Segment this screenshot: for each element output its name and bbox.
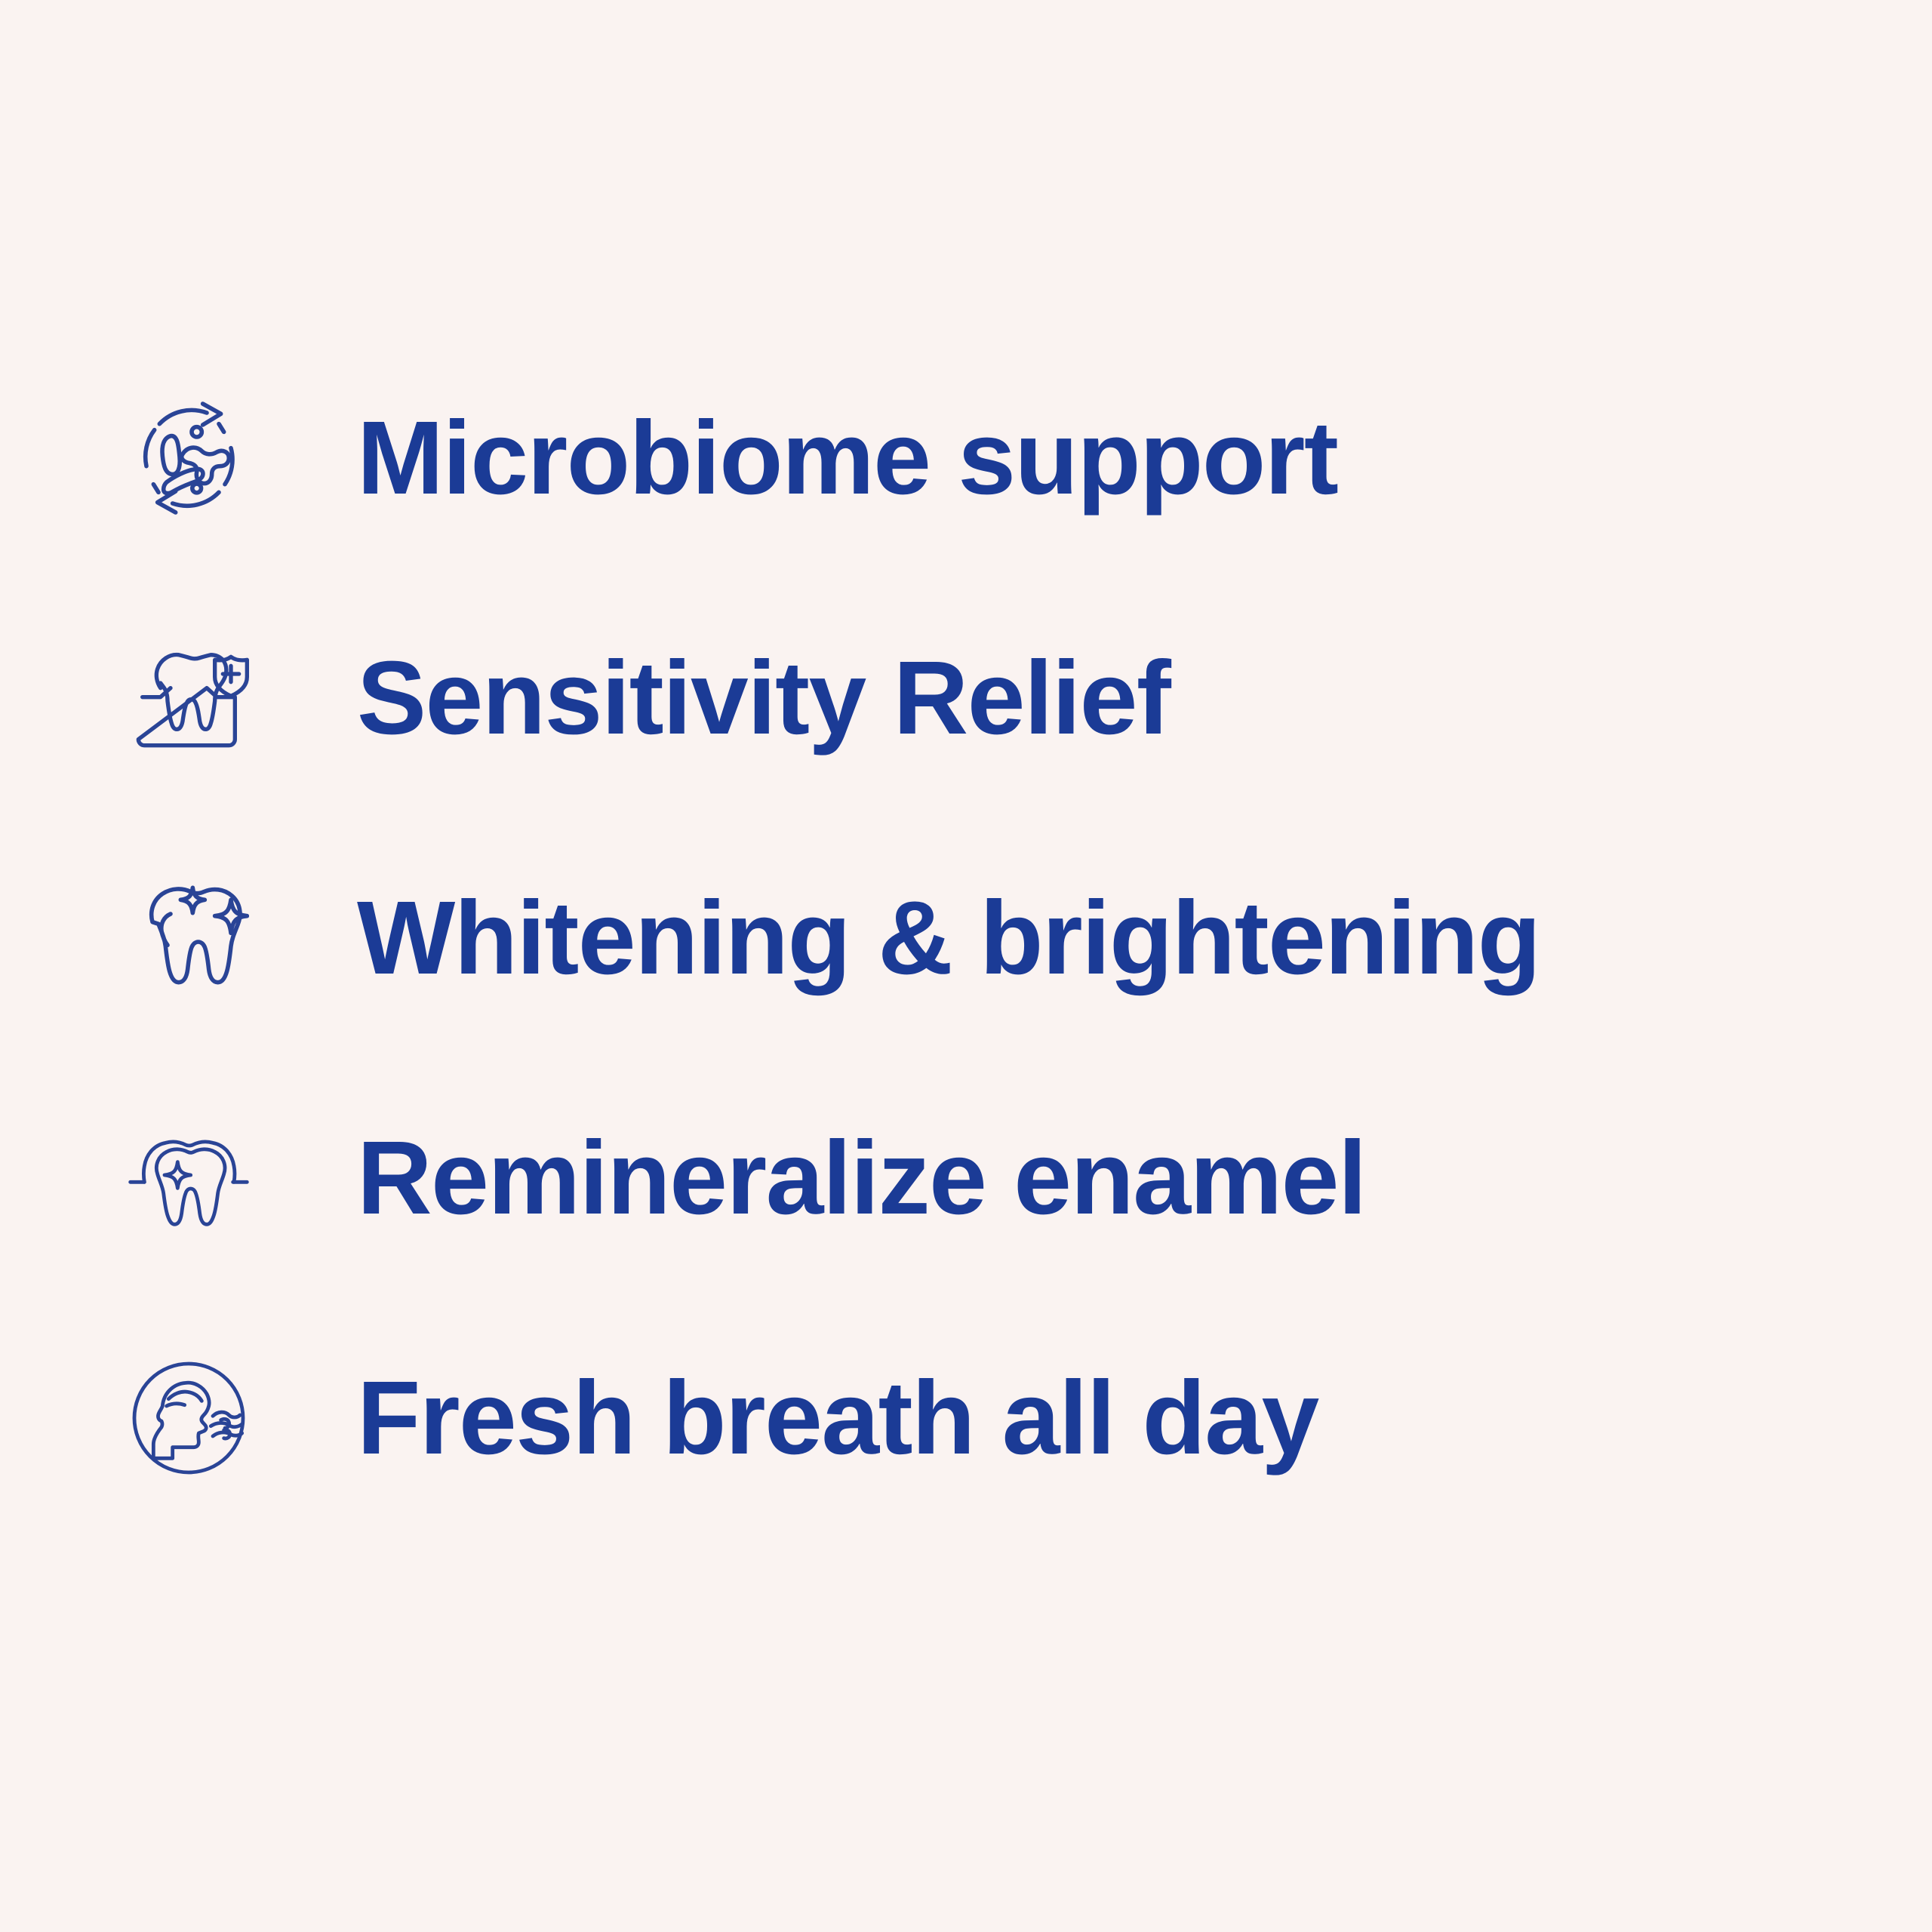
list-item-label: Whitening & brightening: [357, 884, 1540, 993]
list-item-label: Remineralize enamel: [357, 1124, 1366, 1233]
fresh-breath-head-icon: [128, 1358, 249, 1478]
list-item: Fresh breath all day: [0, 1298, 1932, 1538]
list-item-label: Sensitivity Relief: [357, 644, 1170, 753]
tooth-enamel-layer-sparkle-icon: [128, 1118, 249, 1238]
list-item: Microbiome support: [0, 338, 1932, 578]
tooth-gum-shield-icon: [128, 638, 249, 758]
benefits-panel: Microbiome support: [0, 0, 1932, 1932]
list-item-label: Microbiome support: [357, 404, 1337, 513]
list-item: Sensitivity Relief: [0, 578, 1932, 818]
list-item: Remineralize enamel: [0, 1058, 1932, 1298]
microbiome-refresh-icon: [128, 398, 249, 518]
list-item: Whitening & brightening: [0, 818, 1932, 1058]
benefits-list: Microbiome support: [0, 338, 1932, 1538]
tooth-sparkle-icon: [128, 878, 249, 998]
list-item-label: Fresh breath all day: [357, 1364, 1318, 1473]
